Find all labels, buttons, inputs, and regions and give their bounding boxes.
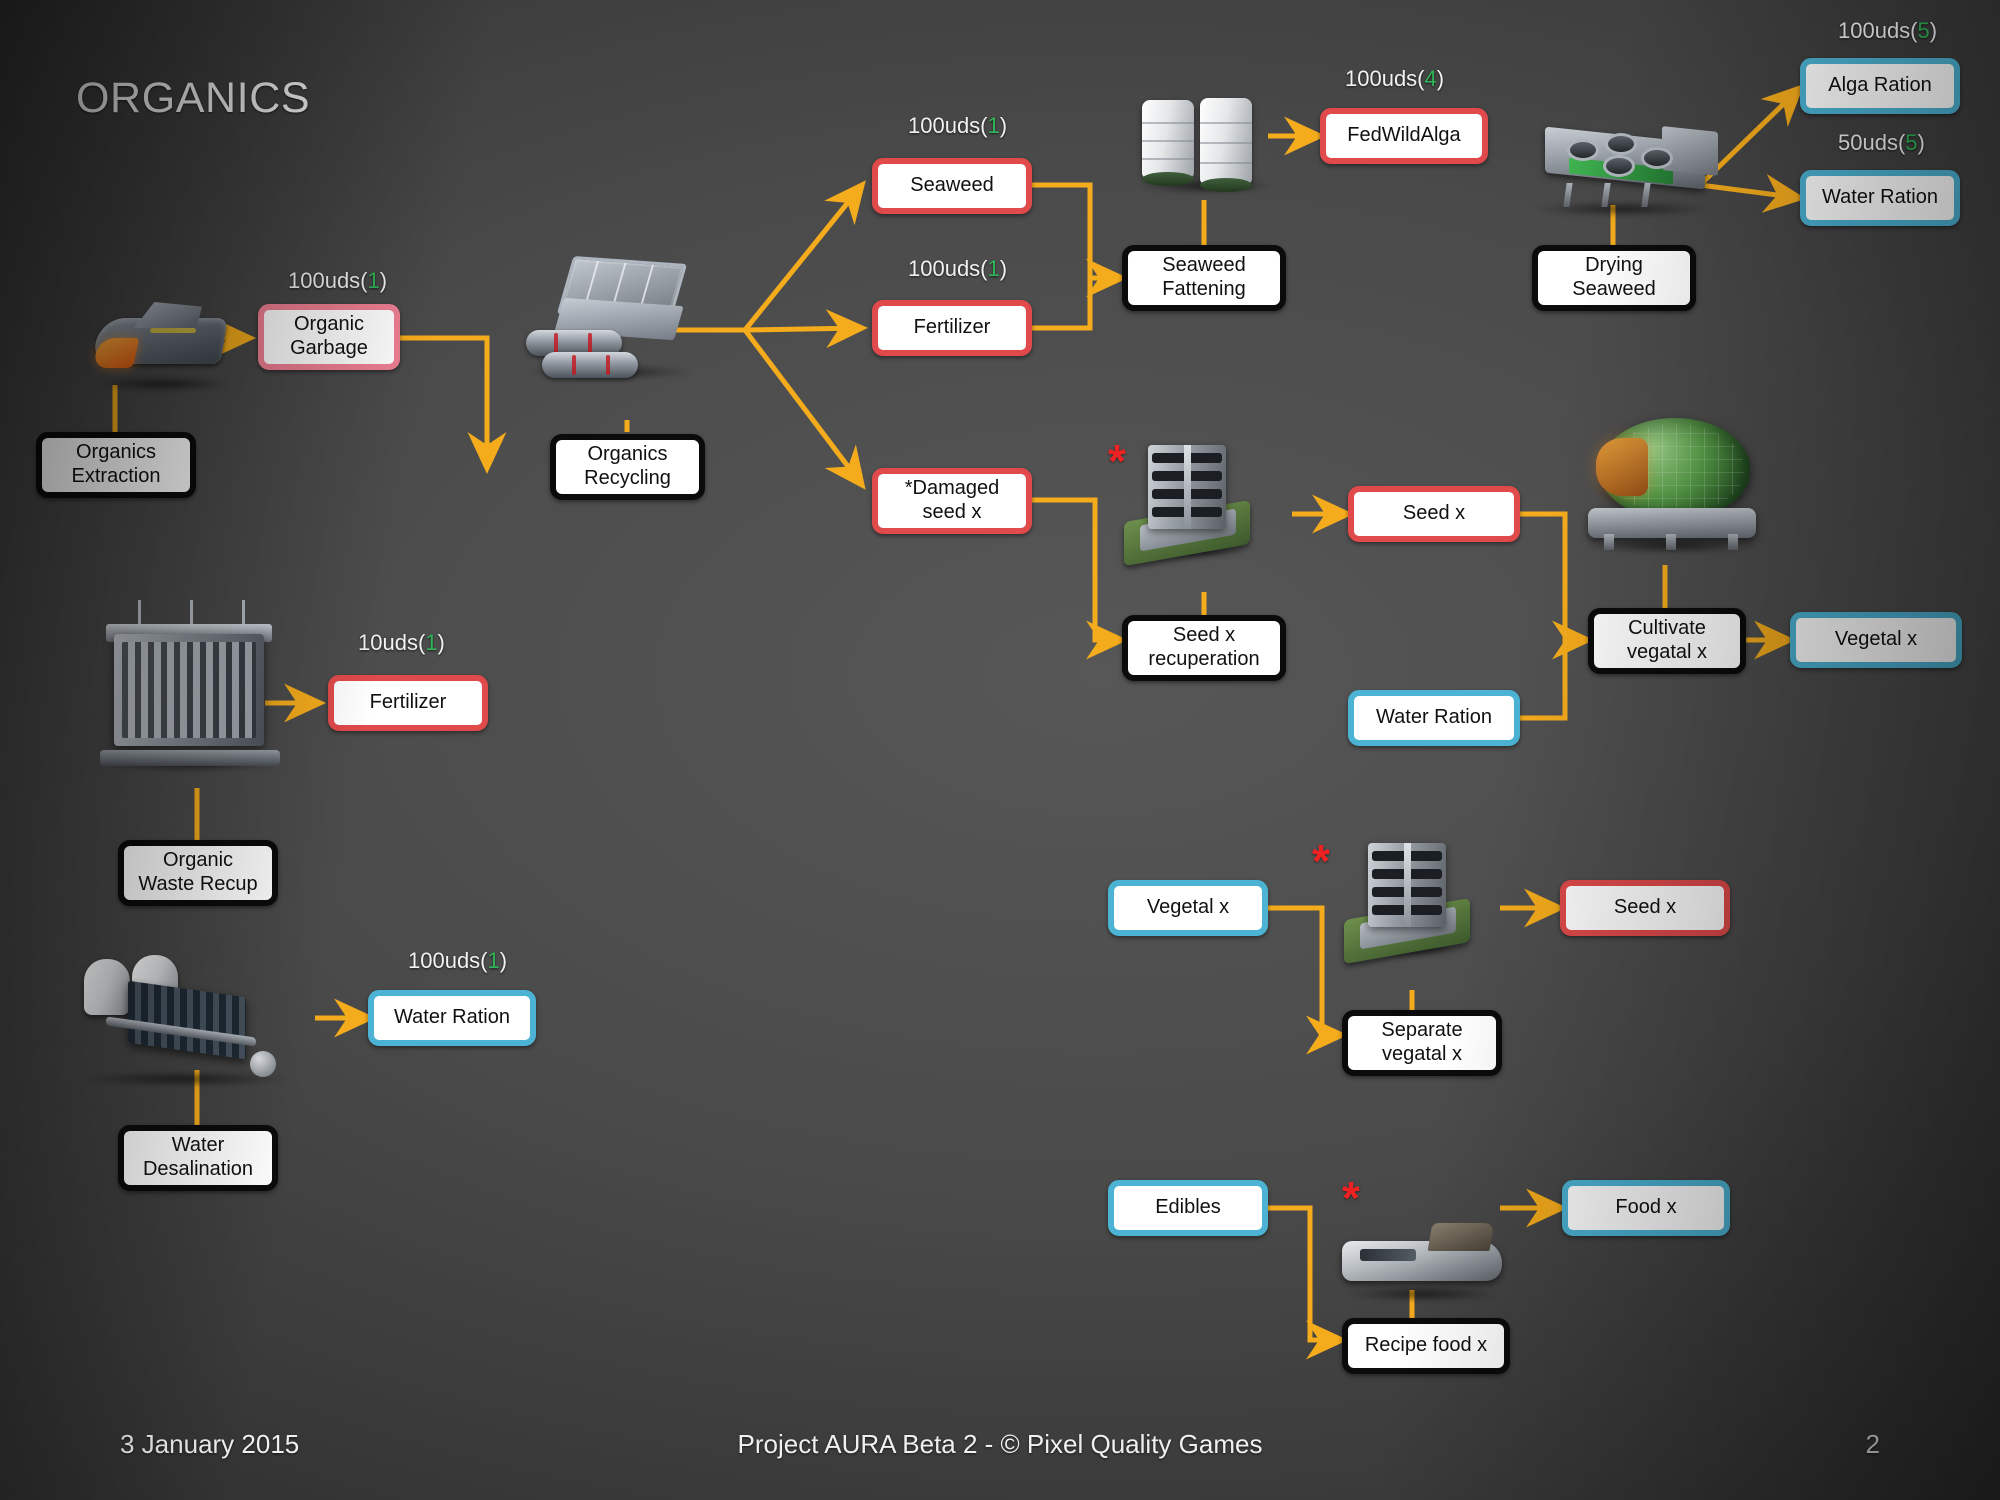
connector-wires — [0, 0, 2000, 1500]
quantity-suffix: ) — [1000, 113, 1007, 138]
node-organics-recycling[interactable]: OrganicsRecycling — [550, 434, 705, 500]
asterisk-marker-recipe-food: * — [1342, 1175, 1360, 1221]
quantity-suffix: ) — [438, 630, 445, 655]
quantity-suffix: ) — [1437, 66, 1444, 91]
node-water-desalination[interactable]: WaterDesalination — [118, 1125, 278, 1191]
quantity-suffix: ) — [500, 948, 507, 973]
organics-recycling-plant-icon — [520, 258, 700, 378]
organic-waste-recup-plant-icon — [90, 600, 290, 770]
quantity-prefix: 100uds( — [1838, 18, 1918, 43]
quantity-suffix: ) — [1930, 18, 1937, 43]
node-fertilizer-left[interactable]: Fertilizer — [328, 675, 488, 731]
quantity-suffix: ) — [380, 268, 387, 293]
quantity-fertilizer-left: 10uds(1) — [358, 630, 445, 656]
quantity-fertilizer-mid: 100uds(1) — [908, 256, 1007, 282]
quantity-value: 1 — [988, 113, 1000, 138]
quantity-value: 1 — [488, 948, 500, 973]
node-alga-ration[interactable]: Alga Ration — [1800, 58, 1960, 114]
footer-title: Project AURA Beta 2 - © Pixel Quality Ga… — [0, 1429, 2000, 1460]
quantity-seaweed: 100uds(1) — [908, 113, 1007, 139]
node-water-ration-left[interactable]: Water Ration — [368, 990, 536, 1046]
node-recipe-food-x[interactable]: Recipe food x — [1342, 1318, 1510, 1374]
drying-seaweed-factory-icon — [1525, 105, 1720, 215]
node-seaweed[interactable]: Seaweed — [872, 158, 1032, 214]
quantity-value: 1 — [988, 256, 1000, 281]
node-drying-seaweed[interactable]: DryingSeaweed — [1532, 245, 1696, 311]
quantity-value: 5 — [1905, 130, 1917, 155]
greenhouse-dome-icon — [1578, 412, 1763, 552]
quantity-suffix: ) — [1918, 130, 1925, 155]
quantity-prefix: 50uds( — [1838, 130, 1905, 155]
slide-canvas: ORGANICS — [0, 0, 2000, 1500]
algae-tanks-icon — [1130, 82, 1280, 192]
quantity-alga-ration: 100uds(5) — [1838, 18, 1937, 44]
food-recipe-hopper-icon — [1338, 1215, 1508, 1300]
quantity-prefix: 100uds( — [1345, 66, 1425, 91]
node-vegetal-x-input[interactable]: Vegetal x — [1108, 880, 1268, 936]
asterisk-marker-separate-vegetal: * — [1312, 838, 1330, 884]
quantity-prefix: 100uds( — [288, 268, 368, 293]
node-seed-x-output[interactable]: Seed x — [1348, 486, 1520, 542]
quantity-water-ration-top: 50uds(5) — [1838, 130, 1925, 156]
node-separate-vegetal-x[interactable]: Separatevegatal x — [1342, 1010, 1502, 1076]
quantity-prefix: 100uds( — [408, 948, 488, 973]
quantity-value: 5 — [1918, 18, 1930, 43]
node-fertilizer-mid[interactable]: Fertilizer — [872, 300, 1032, 356]
node-damaged-seed-x[interactable]: *Damagedseed x — [872, 468, 1032, 534]
node-edibles[interactable]: Edibles — [1108, 1180, 1268, 1236]
quantity-value: 1 — [425, 630, 437, 655]
quantity-fedwildalga: 100uds(4) — [1345, 66, 1444, 92]
node-seaweed-fattening[interactable]: SeaweedFattening — [1122, 245, 1286, 311]
water-desalination-rig-icon — [70, 955, 300, 1085]
seed-recuperation-tower-icon — [1122, 432, 1252, 557]
quantity-prefix: 100uds( — [908, 256, 988, 281]
node-water-ration-top[interactable]: Water Ration — [1800, 170, 1960, 226]
organics-extraction-ship-icon — [88, 300, 238, 390]
separate-vegetal-tower-icon — [1342, 830, 1472, 955]
node-water-ration-mid[interactable]: Water Ration — [1348, 690, 1520, 746]
quantity-prefix: 10uds( — [358, 630, 425, 655]
node-cultivate-vegetal-x[interactable]: Cultivatevegatal x — [1588, 608, 1746, 674]
node-fedwildalga[interactable]: FedWildAlga — [1320, 108, 1488, 164]
node-food-x[interactable]: Food x — [1562, 1180, 1730, 1236]
quantity-water-ration-left: 100uds(1) — [408, 948, 507, 974]
node-vegetal-x-output[interactable]: Vegetal x — [1790, 612, 1962, 668]
node-organic-waste-recup[interactable]: OrganicWaste Recup — [118, 840, 278, 906]
asterisk-marker-seed-recuperation: * — [1108, 438, 1126, 484]
node-organics-extraction[interactable]: OrganicsExtraction — [36, 432, 196, 498]
quantity-value: 4 — [1425, 66, 1437, 91]
footer-page-number: 2 — [1866, 1429, 1880, 1460]
node-seed-x-separated[interactable]: Seed x — [1560, 880, 1730, 936]
quantity-organic-garbage: 100uds(1) — [288, 268, 387, 294]
node-seed-x-recuperation[interactable]: Seed xrecuperation — [1122, 615, 1286, 681]
quantity-suffix: ) — [1000, 256, 1007, 281]
quantity-prefix: 100uds( — [908, 113, 988, 138]
quantity-value: 1 — [368, 268, 380, 293]
page-title: ORGANICS — [76, 74, 310, 123]
node-organic-garbage[interactable]: OrganicGarbage — [258, 304, 400, 370]
